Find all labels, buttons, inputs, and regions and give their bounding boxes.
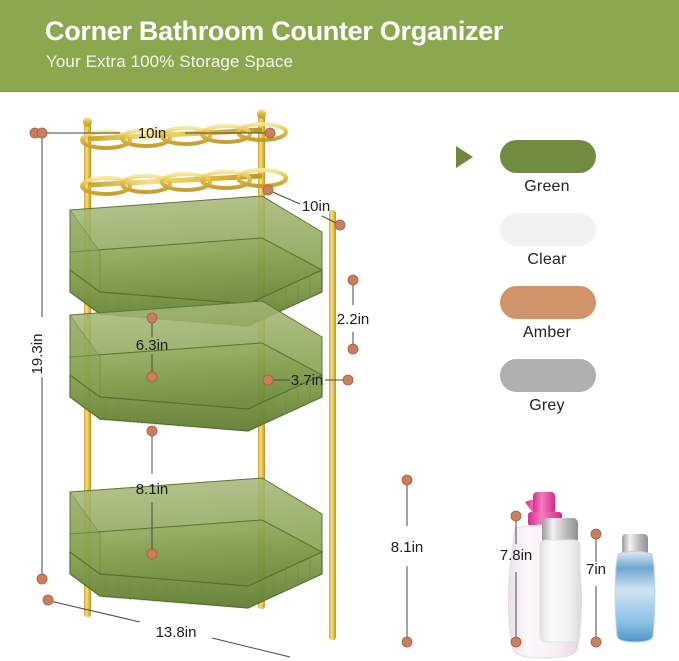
color-label-green: Green (452, 178, 642, 196)
dim-label-top-width: 10in (138, 125, 166, 142)
color-chip-green[interactable] (500, 140, 596, 173)
color-option-clear[interactable]: Clear (452, 213, 642, 286)
selected-arrow-icon (456, 146, 473, 168)
product-diagram: 10in 10in 2.2in 3.7in 6.3in 8.1in 19.3in… (0, 92, 420, 661)
color-option-green[interactable]: Green (452, 140, 642, 213)
dim-label-total-height: 19.3in (29, 334, 46, 375)
bottle-comparison: 8.1in 7.8in (385, 462, 679, 661)
top-guard-rails (82, 124, 286, 194)
color-chip-grey[interactable] (500, 359, 596, 392)
dim-label-upper-clearance: 6.3in (136, 337, 169, 354)
dim-label-base-width: 13.8in (156, 624, 197, 641)
color-options-panel: Green Clear Amber Grey (452, 140, 642, 432)
color-label-clear: Clear (452, 251, 642, 269)
color-option-grey[interactable]: Grey (452, 359, 642, 432)
tray-tier-3 (70, 478, 322, 608)
color-label-grey: Grey (452, 397, 642, 415)
page-subtitle: Your Extra 100% Storage Space (46, 52, 293, 72)
bottle-toner (615, 534, 655, 642)
color-chip-amber[interactable] (500, 286, 596, 319)
dim-label-wall-height: 2.2in (337, 311, 370, 328)
dim-label-lower-clearance: 8.1in (136, 481, 169, 498)
color-option-amber[interactable]: Amber (452, 286, 642, 359)
bottle-1-label: 8.1in (391, 539, 424, 556)
color-chip-clear[interactable] (500, 213, 596, 246)
dim-label-side-depth: 3.7in (291, 372, 324, 389)
bottle-2-label: 7.8in (500, 547, 533, 564)
color-label-amber: Amber (452, 324, 642, 342)
dim-label-top-depth: 10in (302, 198, 330, 215)
page-title: Corner Bathroom Counter Organizer (45, 16, 503, 47)
tray-tier-2 (70, 301, 322, 431)
dimension-bottle-1: 8.1in (391, 475, 424, 647)
header-banner: Corner Bathroom Counter Organizer Your E… (0, 0, 679, 92)
bottle-3-label: 7in (586, 561, 606, 578)
dimension-bottle-3: 7in (586, 529, 606, 647)
bottle-frosted (540, 518, 580, 642)
infographic-page: Corner Bathroom Counter Organizer Your E… (0, 0, 679, 661)
